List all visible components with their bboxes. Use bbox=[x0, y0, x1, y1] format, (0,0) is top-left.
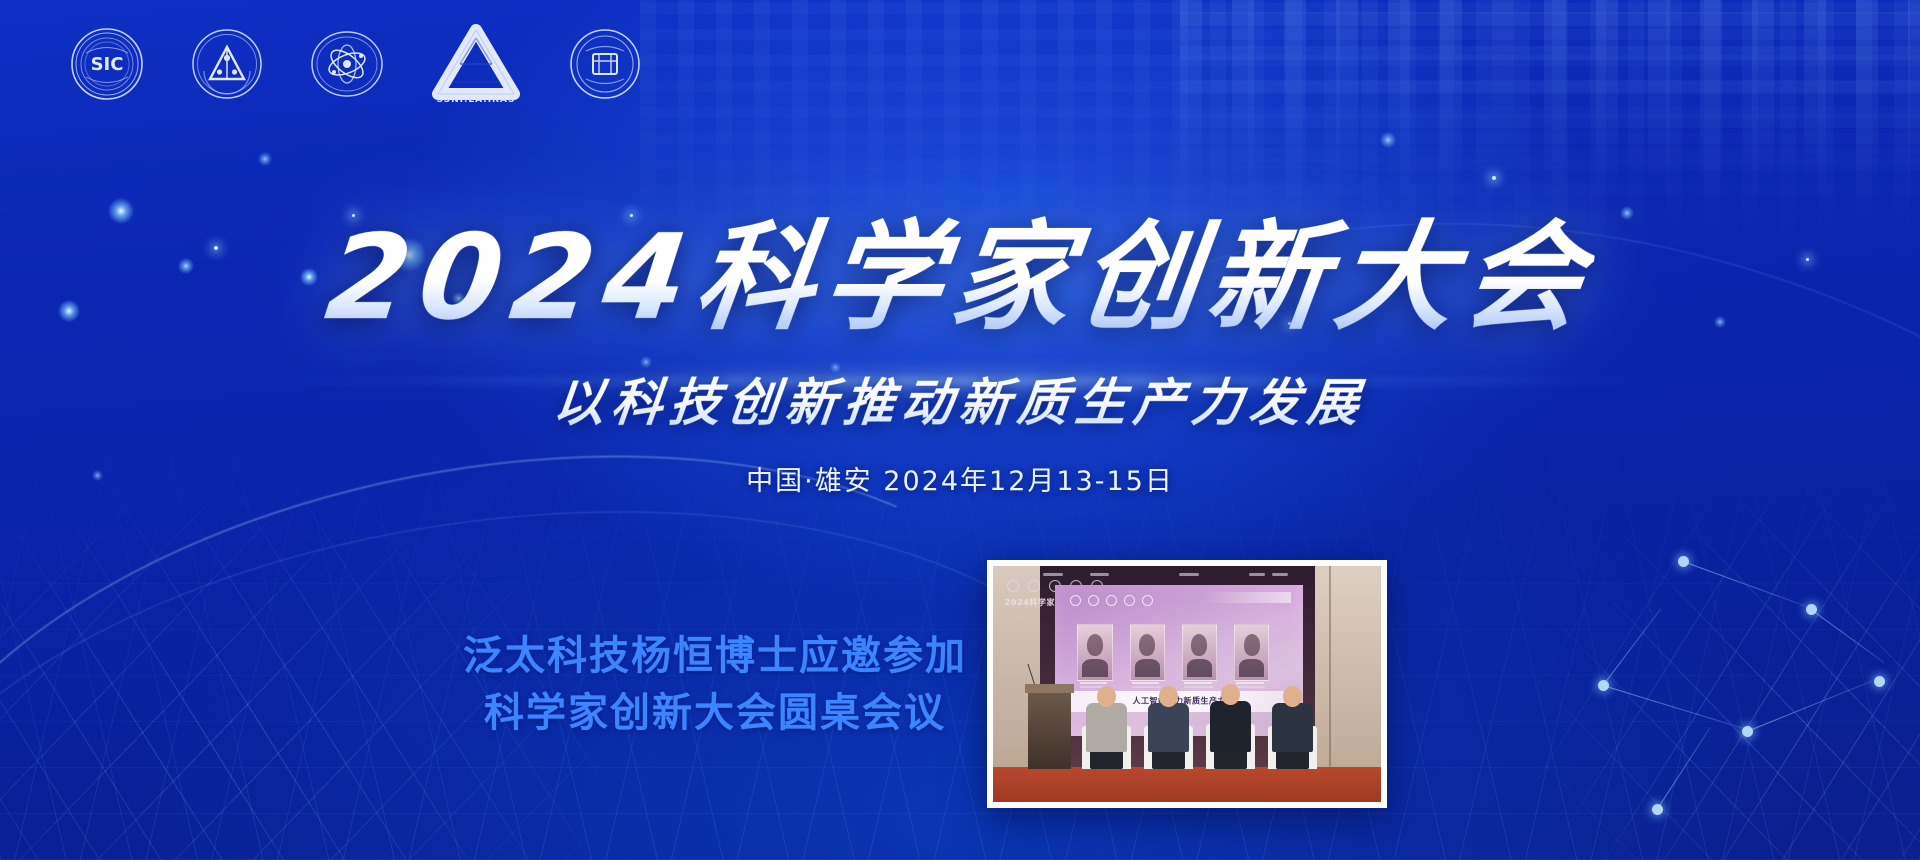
caption-line-1: 泛太科技杨恒博士应邀参加 bbox=[455, 628, 975, 685]
panelist bbox=[1144, 675, 1193, 769]
stage-logo-icon bbox=[1007, 580, 1019, 592]
screen-logo-icon bbox=[1088, 595, 1099, 606]
photo-ceiling-light bbox=[1179, 573, 1198, 576]
panelist-body bbox=[1148, 703, 1189, 752]
panelist bbox=[1082, 675, 1131, 769]
caption-block: 泛太科技杨恒博士应邀参加 科学家创新大会圆桌会议 bbox=[455, 628, 975, 742]
photo-ceiling-light bbox=[1043, 573, 1062, 576]
light-particle bbox=[258, 152, 272, 166]
network-node bbox=[1652, 804, 1663, 815]
university-emblem-icon bbox=[568, 27, 642, 101]
screen-logo-icon bbox=[1070, 595, 1081, 606]
organizer-logo-strip: SIC bbox=[70, 24, 642, 104]
svg-text:SSNI.LA.IRAS: SSNI.LA.IRAS bbox=[437, 95, 516, 104]
event-date-location: 中国·雄安 2024年12月13-15日 bbox=[0, 459, 1920, 498]
photo-podium bbox=[1028, 691, 1071, 769]
stage-logo-icon bbox=[1028, 580, 1040, 592]
panelist bbox=[1268, 675, 1317, 769]
screen-logo-icon bbox=[1124, 595, 1135, 606]
network-node bbox=[1678, 556, 1689, 567]
svg-text:SIC: SIC bbox=[91, 54, 124, 75]
panelist-head bbox=[1159, 686, 1178, 707]
network-node bbox=[1874, 676, 1885, 687]
light-particle bbox=[1380, 132, 1396, 148]
network-link bbox=[1683, 561, 1806, 606]
network-link bbox=[1603, 609, 1662, 686]
photo-stage-floor bbox=[993, 767, 1381, 802]
photo-podium-top bbox=[1025, 684, 1074, 693]
network-link bbox=[1811, 609, 1884, 663]
network-link bbox=[1603, 685, 1745, 729]
title-block: 2024科学家创新大会 以科技创新推动新质生产力发展 中国·雄安 2024年12… bbox=[0, 214, 1920, 498]
network-node bbox=[1742, 726, 1753, 737]
sic-emblem-icon: SIC bbox=[70, 27, 144, 101]
screen-speaker-portrait bbox=[1077, 624, 1113, 680]
panelist-head bbox=[1097, 686, 1116, 707]
photo-ceiling-light bbox=[1090, 573, 1109, 576]
network-node bbox=[1598, 680, 1609, 691]
network-link bbox=[1657, 727, 1711, 810]
panelist-body bbox=[1210, 701, 1251, 751]
photo-wall-seam bbox=[1329, 566, 1331, 767]
panelist bbox=[1206, 672, 1255, 769]
screen-header-bar bbox=[1202, 592, 1291, 603]
event-photo: 2024科学家创新大会 bbox=[993, 566, 1381, 802]
panelist-head bbox=[1283, 686, 1302, 707]
panelist-body bbox=[1086, 703, 1127, 752]
panelist-body bbox=[1272, 703, 1313, 752]
network-node bbox=[1806, 604, 1817, 615]
data-bar-texture-right bbox=[1180, 0, 1920, 230]
network-link bbox=[1747, 681, 1872, 732]
academy-emblem-icon bbox=[190, 27, 264, 101]
page-title: 2024科学家创新大会 bbox=[320, 214, 1600, 341]
page-subtitle: 以科技创新推动新质生产力发展 bbox=[550, 361, 1370, 435]
poster-stage: SIC bbox=[0, 0, 1920, 860]
photo-ceiling-light bbox=[1272, 573, 1288, 576]
triangle-emblem-icon: SSNI.LA.IRAS bbox=[430, 24, 522, 104]
photo-wall-right bbox=[1315, 566, 1381, 767]
screen-speaker-portrait bbox=[1130, 624, 1166, 680]
screen-logo-row bbox=[1070, 595, 1153, 606]
atom-emblem-icon bbox=[310, 27, 384, 101]
screen-logo-icon bbox=[1106, 595, 1117, 606]
caption-line-2: 科学家创新大会圆桌会议 bbox=[455, 685, 975, 742]
event-photo-card: 2024科学家创新大会 bbox=[987, 560, 1387, 808]
photo-ceiling-light bbox=[1249, 573, 1265, 576]
screen-logo-icon bbox=[1142, 595, 1153, 606]
light-dot bbox=[1492, 176, 1496, 180]
